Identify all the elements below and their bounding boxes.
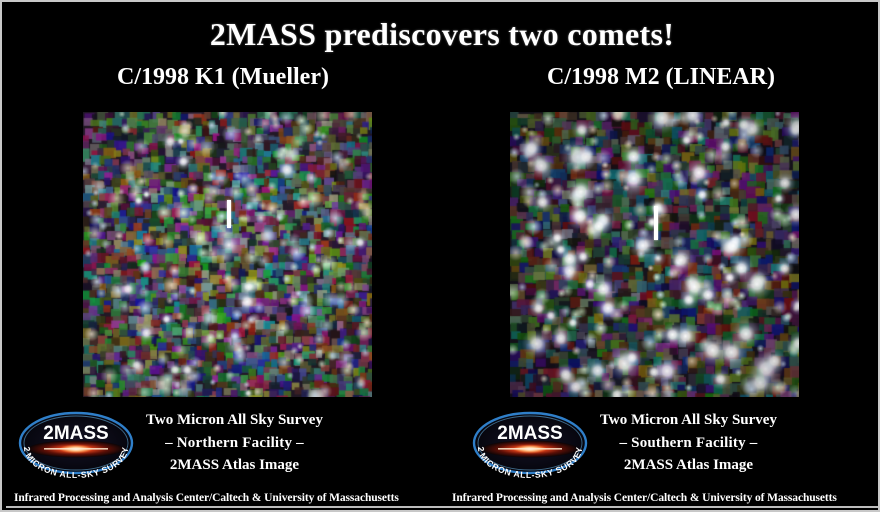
starfield-canvas-left — [83, 112, 372, 397]
twomass-logo-icon-right: 2MASS 2 MICRON ALL-SKY SURVEY — [468, 408, 592, 478]
sky-image-left — [83, 112, 372, 397]
credit-left: Infrared Processing and Analysis Center/… — [14, 492, 399, 504]
caption-line-1-left: Two Micron All Sky Survey — [146, 409, 323, 432]
starfield-canvas-right — [510, 112, 799, 397]
twomass-logo-icon-left: 2MASS 2 MICRON ALL-SKY SURVEY — [14, 408, 138, 478]
twomass-logo-left: 2MASS 2 MICRON ALL-SKY SURVEY — [14, 408, 138, 478]
logo-wordmark-left: 2MASS — [43, 423, 108, 444]
caption-line-2-right: – Southern Facility – — [600, 432, 777, 455]
caption-line-3-right: 2MASS Atlas Image — [600, 454, 777, 477]
page-title: 2MASS prediscovers two comets! — [2, 16, 880, 53]
caption-lines-left: Two Micron All Sky Survey – Northern Fac… — [146, 409, 323, 477]
caption-line-2-left: – Northern Facility – — [146, 432, 323, 455]
comet-panel-right: C/1998 M2 (LINEAR) — [444, 64, 878, 508]
caption-row-right: 2MASS 2 MICRON ALL-SKY SURVEY Two Micron… — [468, 406, 880, 480]
twomass-logo-right: 2MASS 2 MICRON ALL-SKY SURVEY — [468, 408, 592, 478]
panel-title-left: C/1998 K1 (Mueller) — [6, 64, 440, 91]
comet-panel-left: C/1998 K1 (Mueller) — [6, 64, 440, 508]
caption-line-3-left: 2MASS Atlas Image — [146, 454, 323, 477]
poster-root: 2MASS prediscovers two comets! C/1998 K1… — [0, 0, 880, 512]
caption-lines-right: Two Micron All Sky Survey – Southern Fac… — [600, 409, 777, 477]
comet-marker-right — [654, 206, 658, 240]
caption-row-left: 2MASS 2 MICRON ALL-SKY SURVEY Two Micron… — [14, 406, 434, 480]
credit-divider — [6, 506, 878, 508]
panel-title-right: C/1998 M2 (LINEAR) — [444, 64, 878, 91]
comet-marker-left — [227, 200, 231, 228]
logo-wordmark-right: 2MASS — [497, 423, 562, 444]
sky-image-right — [510, 112, 799, 397]
caption-line-1-right: Two Micron All Sky Survey — [600, 409, 777, 432]
credit-right: Infrared Processing and Analysis Center/… — [452, 492, 837, 504]
